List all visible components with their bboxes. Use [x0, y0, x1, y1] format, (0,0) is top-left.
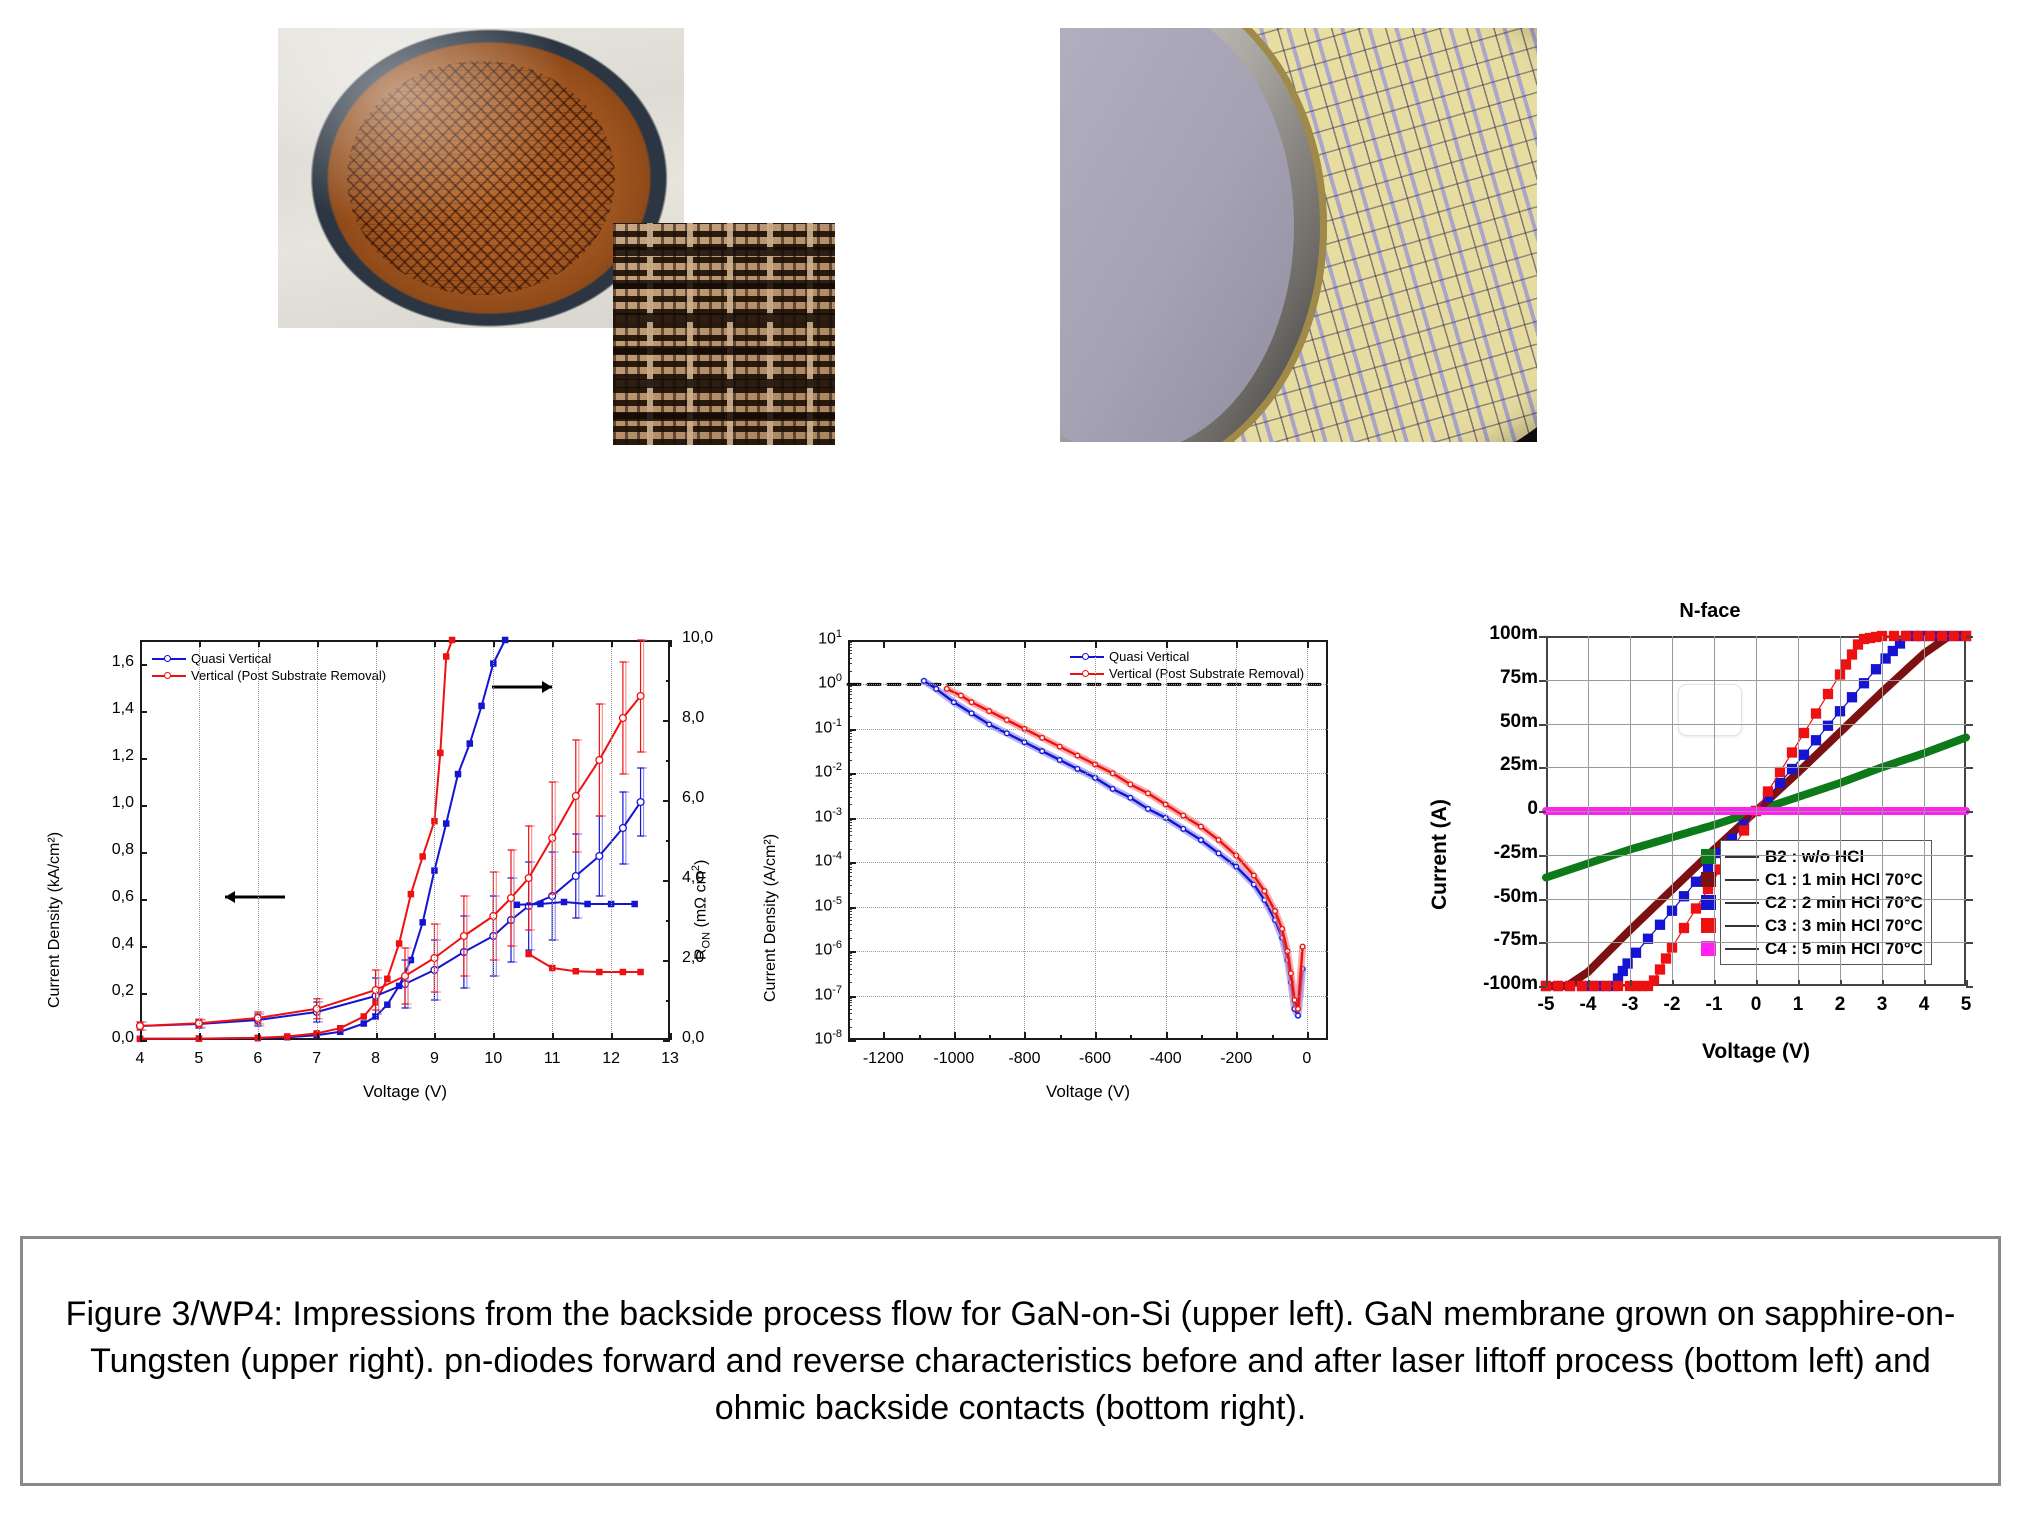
chart1-legend-label-0: Quasi Vertical — [191, 650, 271, 667]
chart2-y-minor-tick — [848, 698, 852, 699]
chart2-y-minor-tick — [848, 742, 852, 743]
chart3-y-tick-mark — [1539, 636, 1546, 638]
chart3-legend-item-c3[interactable]: C3 : 3 min HCl 70°C — [1725, 914, 1923, 937]
chart2-y-minor-tick — [848, 924, 852, 925]
chart2-y-tick-mark — [848, 773, 856, 775]
chart3-blank-badge — [1678, 684, 1742, 736]
chart3-x-tick-label: -2 — [1656, 994, 1688, 1016]
chart1-y2-tick-label: 0,0 — [682, 1029, 704, 1047]
chart2-y-minor-tick — [848, 747, 852, 748]
chart2-x-minor-tick — [1201, 1035, 1203, 1040]
y-tick-mark — [140, 711, 147, 713]
chart2-legend-label-0: Quasi Vertical — [1109, 648, 1189, 665]
chart2-y-minor-tick — [848, 820, 852, 821]
chart3-x-tick-label: -4 — [1572, 994, 1604, 1016]
chart3-legend-label-2: C2 : 2 min HCl 70°C — [1765, 891, 1923, 914]
chart2-y-minor-tick — [848, 1009, 852, 1010]
chart2-x-tick-label: -800 — [994, 1050, 1054, 1068]
chart3-x-tick-label: 3 — [1866, 994, 1898, 1016]
chart-forward-characteristics: Current Density (kA/cm²) RON (mΩ cm2) Vo… — [30, 630, 710, 1100]
chart1-y2-minor-tick — [666, 1000, 670, 1002]
chart1-y2-tick-label: 4,0 — [682, 869, 704, 887]
chart2-x-tick-mark — [1024, 640, 1026, 648]
chart2-y-tick-label: 10-2 — [790, 761, 842, 781]
chart3-x-tick-mark — [1714, 980, 1716, 986]
chart1-gridline-v — [434, 640, 435, 1040]
chart2-x-tick-label: -600 — [1065, 1050, 1125, 1068]
chart2-y-minor-tick — [848, 961, 852, 962]
x-tick-mark-top — [670, 640, 672, 647]
chart1-y-tick-label: 1,2 — [88, 747, 134, 765]
chart2-y-tick-mark — [848, 729, 856, 731]
x-tick-mark-top — [199, 640, 201, 647]
x-tick-mark-top — [317, 640, 319, 647]
chart3-x-tick-mark — [1588, 980, 1590, 986]
chart2-x-tick-mark — [954, 640, 956, 648]
chart2-gridline-h — [848, 862, 1328, 863]
chart3-y-tick-mark — [1539, 986, 1546, 988]
chart2-y-minor-tick — [848, 831, 852, 832]
y-tick-mark — [140, 664, 147, 666]
chart2-y-minor-tick — [848, 869, 852, 870]
chart2-x-minor-tick — [919, 1035, 921, 1040]
chart2-y-minor-tick — [848, 938, 852, 939]
chart2-y-minor-tick — [848, 867, 852, 868]
chart2-gridline-v — [1166, 640, 1167, 1040]
chart1-y-tick-label: 0,4 — [88, 935, 134, 953]
chart2-y-minor-tick — [848, 671, 852, 672]
x-tick-mark-top — [493, 640, 495, 647]
chart2-y-tick-label: 10-8 — [790, 1028, 842, 1048]
chart3-x-tick-mark — [1672, 980, 1674, 986]
chart2-gridline-h — [848, 684, 1328, 685]
y-tick-mark — [140, 852, 147, 854]
chart1-y-tick-label: 0,2 — [88, 982, 134, 1000]
chart2-y-minor-tick — [848, 914, 852, 915]
chart2-y-minor-tick — [848, 1019, 852, 1020]
chart3-x-tick-label: -3 — [1614, 994, 1646, 1016]
chart3-y2-tick-mark — [1966, 855, 1973, 857]
chart2-y-tick-label: 10-5 — [790, 895, 842, 915]
chart2-x-tick-label: 0 — [1277, 1050, 1337, 1068]
chart2-y-minor-tick — [848, 689, 852, 690]
chart2-y-minor-tick — [848, 1013, 852, 1014]
chart3-gridline-h — [1546, 680, 1966, 681]
chart2-y-minor-tick — [848, 716, 852, 717]
chart2-legend: Quasi Vertical Vertical (Post Substrate … — [1070, 648, 1304, 682]
chart3-y2-tick-mark — [1966, 811, 1973, 813]
chart2-x-tick-mark — [1166, 1032, 1168, 1040]
chart2-gridline-h — [848, 907, 1328, 908]
chart2-y-minor-tick — [848, 658, 852, 659]
chart2-y-minor-tick — [848, 893, 852, 894]
chart3-y2-tick-mark — [1966, 636, 1973, 638]
chart2-gridline-v — [1095, 640, 1096, 1040]
chart3-x-tick-mark — [1882, 980, 1884, 986]
chart1-legend-item-quasi-vertical[interactable]: Quasi Vertical — [152, 650, 386, 667]
chart2-y-minor-tick — [848, 733, 852, 734]
chart1-x-tick-label: 6 — [246, 1050, 270, 1068]
chart2-y-minor-tick — [848, 791, 852, 792]
chart2-x-tick-mark — [1236, 1032, 1238, 1040]
x-tick-mark — [493, 1033, 495, 1040]
chart3-legend-item-b2[interactable]: B2 : w/o HCl — [1725, 845, 1923, 868]
chart3-y-tick-mark — [1539, 680, 1546, 682]
chart2-gridline-h — [848, 996, 1328, 997]
chart2-x-tick-label: -1000 — [924, 1050, 984, 1068]
chart2-y-minor-tick — [848, 998, 852, 999]
chart2-y-minor-tick — [848, 825, 852, 826]
chart2-x-tick-mark — [1166, 640, 1168, 648]
chart3-legend-item-c1[interactable]: C1 : 1 min HCl 70°C — [1725, 868, 1923, 891]
chart3-y2-tick-mark — [1966, 680, 1973, 682]
chart1-y2-minor-tick — [666, 680, 670, 682]
chart1-y-tick-label: 1,0 — [88, 794, 134, 812]
chart2-y-tick-label: 101 — [790, 628, 842, 648]
x-tick-mark-top — [552, 640, 554, 647]
chart1-y2-tick-mark — [663, 960, 670, 962]
chart2-y-minor-tick — [848, 739, 852, 740]
chart2-y-tick-mark — [848, 640, 856, 642]
chart3-gridline-h — [1546, 855, 1966, 856]
chart3-x-tick-mark — [1630, 980, 1632, 986]
y-tick-mark — [140, 993, 147, 995]
chart3-x-tick-label: 1 — [1782, 994, 1814, 1016]
chart1-gridline-v — [317, 640, 318, 1040]
chart1-x-tick-label: 11 — [540, 1050, 564, 1068]
chart1-gridline-v — [493, 640, 494, 1040]
chart2-y-minor-tick — [848, 953, 852, 954]
chart1-x-tick-label: 10 — [481, 1050, 505, 1068]
chart3-x-tick-mark — [1546, 980, 1548, 986]
chart3-y2-tick-mark — [1966, 724, 1973, 726]
chart3-gridline-h — [1546, 942, 1966, 943]
chart3-y-tick-mark — [1539, 855, 1546, 857]
chip-closeup-photo — [613, 223, 835, 445]
chart2-y-tick-mark — [848, 862, 856, 864]
chart3-y-tick-label: -25m — [1434, 842, 1538, 864]
chart3-y-tick-mark — [1539, 899, 1546, 901]
chart2-y-minor-tick — [848, 1005, 852, 1006]
x-tick-mark — [552, 1033, 554, 1040]
chart3-y-tick-mark — [1539, 942, 1546, 944]
chart3-y-tick-label: 75m — [1434, 667, 1538, 689]
chart3-y-tick-mark — [1539, 767, 1546, 769]
chart3-legend-label-0: B2 : w/o HCl — [1765, 845, 1864, 868]
chart2-y-minor-tick — [848, 1027, 852, 1028]
chart2-x-minor-tick — [1272, 1035, 1274, 1040]
chart1-x-tick-label: 12 — [599, 1050, 623, 1068]
chart1-x-tick-label: 4 — [128, 1050, 152, 1068]
chart2-y-axis-title: Current Density (A/cm²) — [762, 834, 780, 1002]
chart2-y-minor-tick — [848, 876, 852, 877]
chart3-y-tick-mark — [1539, 724, 1546, 726]
chart1-y2-tick-label: 2,0 — [682, 949, 704, 967]
chart1-x-tick-label: 9 — [422, 1050, 446, 1068]
chart2-y-minor-tick — [848, 911, 852, 912]
chart2-y-minor-tick — [848, 1002, 852, 1003]
chart2-y-minor-tick — [848, 642, 852, 643]
chart3-x-axis-title: Voltage (V) — [1546, 1040, 1966, 1064]
chart2-x-tick-mark — [1307, 1032, 1309, 1040]
chart2-y-minor-tick — [848, 644, 852, 645]
chart2-y-tick-label: 10-6 — [790, 939, 842, 959]
chart1-y2-tick-mark — [663, 800, 670, 802]
y-tick-mark — [140, 946, 147, 948]
chart2-y-minor-tick — [848, 969, 852, 970]
chart1-x-tick-label: 13 — [658, 1050, 682, 1068]
chart2-x-axis-title: Voltage (V) — [848, 1082, 1328, 1102]
chart2-y-minor-tick — [848, 731, 852, 732]
chart3-x-tick-label: 4 — [1908, 994, 1940, 1016]
chart1-gridline-v — [199, 640, 200, 1040]
chart3-legend-item-c2[interactable]: C2 : 2 min HCl 70°C — [1725, 891, 1923, 914]
chart2-y-minor-tick — [848, 964, 852, 965]
chart2-y-minor-tick — [848, 647, 852, 648]
chart2-y-tick-label: 10-4 — [790, 850, 842, 870]
y-tick-mark — [140, 899, 147, 901]
chart2-x-tick-label: -400 — [1136, 1050, 1196, 1068]
chart2-y-tick-mark — [848, 951, 856, 953]
chart1-x-axis-title: Voltage (V) — [140, 1082, 670, 1102]
chart3-legend-item-c4[interactable]: C4 : 5 min HCl 70°C — [1725, 937, 1923, 960]
figure-caption-text: Figure 3/WP4: Impressions from the backs… — [23, 1291, 1998, 1432]
x-tick-mark — [670, 1033, 672, 1040]
chart2-x-tick-label: -1200 — [853, 1050, 913, 1068]
chart3-y-tick-label: 100m — [1434, 623, 1538, 645]
chart2-y-minor-tick — [848, 780, 852, 781]
x-tick-mark-top — [434, 640, 436, 647]
chip-pad-blocks — [613, 223, 835, 445]
chart2-y-minor-tick — [848, 694, 852, 695]
chart3-legend-label-3: C3 : 3 min HCl 70°C — [1765, 914, 1923, 937]
chart2-x-tick-label: -200 — [1206, 1050, 1266, 1068]
chart3-title: N-face — [1420, 600, 2000, 623]
chart2-y-minor-tick — [848, 736, 852, 737]
chart2-x-tick-mark — [1307, 640, 1309, 648]
chart1-legend-label-1: Vertical (Post Substrate Removal) — [191, 667, 386, 684]
chart2-y-minor-tick — [848, 885, 852, 886]
tilted-wafer-photo — [1060, 28, 1537, 442]
chart2-y-minor-tick — [848, 849, 852, 850]
chart2-y-minor-tick — [848, 930, 852, 931]
chart2-legend-label-1: Vertical (Post Substrate Removal) — [1109, 665, 1304, 682]
chart2-y-tick-label: 10-1 — [790, 717, 842, 737]
chart2-y-minor-tick — [848, 775, 852, 776]
chart3-x-tick-mark — [1756, 980, 1758, 986]
chart2-y-minor-tick — [848, 804, 852, 805]
chart2-x-tick-mark — [1236, 640, 1238, 648]
chart3-y-tick-label: 50m — [1434, 711, 1538, 733]
chart2-x-tick-mark — [954, 1032, 956, 1040]
chart2-y-tick-mark — [848, 818, 856, 820]
chart2-y-minor-tick — [848, 955, 852, 956]
chart1-legend: Quasi Vertical Vertical (Post Substrate … — [152, 650, 386, 684]
chart1-canvas — [140, 640, 670, 1040]
chart2-y-minor-tick — [848, 974, 852, 975]
chart2-canvas — [848, 640, 1328, 1040]
chart1-y2-tick-mark — [663, 1040, 670, 1042]
x-tick-mark — [376, 1033, 378, 1040]
chart2-y-minor-tick — [848, 797, 852, 798]
chart2-legend-item-vertical[interactable]: Vertical (Post Substrate Removal) — [1070, 665, 1304, 682]
chart1-y2-tick-mark — [663, 640, 670, 642]
chart3-gridline-h — [1546, 811, 1966, 812]
chart3-y-tick-label: -75m — [1434, 929, 1538, 951]
chart2-y-minor-tick — [848, 752, 852, 753]
chart2-y-tick-label: 10-7 — [790, 984, 842, 1004]
chart1-x-tick-label: 7 — [305, 1050, 329, 1068]
chart2-y-minor-tick — [848, 880, 852, 881]
chart-reverse-characteristics: Current Density (A/cm²) Voltage (V) Quas… — [740, 630, 1360, 1100]
chart1-y2-tick-label: 8,0 — [682, 709, 704, 727]
chart2-y-minor-tick — [848, 1000, 852, 1001]
chart1-y2-tick-label: 6,0 — [682, 789, 704, 807]
chart2-y-minor-tick — [848, 958, 852, 959]
x-tick-mark-top — [140, 640, 142, 647]
chart2-gridline-h — [848, 951, 1328, 952]
chart2-y-minor-tick — [848, 787, 852, 788]
chart3-legend-label-1: C1 : 1 min HCl 70°C — [1765, 868, 1923, 891]
chart2-y-minor-tick — [848, 841, 852, 842]
x-tick-mark — [317, 1033, 319, 1040]
chart2-y-tick-mark — [848, 907, 856, 909]
x-tick-mark — [258, 1033, 260, 1040]
chart3-x-tick-mark — [1924, 980, 1926, 986]
chart2-y-minor-tick — [848, 653, 852, 654]
x-tick-mark — [434, 1033, 436, 1040]
chart3-legend-label-4: C4 : 5 min HCl 70°C — [1765, 937, 1923, 960]
chart2-y-minor-tick — [848, 691, 852, 692]
chart1-y-tick-label: 0,8 — [88, 841, 134, 859]
chart1-x-tick-label: 5 — [187, 1050, 211, 1068]
chart2-x-tick-mark — [883, 640, 885, 648]
chart1-gridline-v — [552, 640, 553, 1040]
chart1-y2-minor-tick — [666, 840, 670, 842]
y-tick-mark — [140, 805, 147, 807]
chart3-x-tick-label: 0 — [1740, 994, 1772, 1016]
chart1-gridline-v — [258, 640, 259, 1040]
chart3-x-tick-label: -1 — [1698, 994, 1730, 1016]
chart3-y-tick-label: -100m — [1434, 973, 1538, 995]
chart3-gridline-h — [1546, 899, 1966, 900]
chart2-y-minor-tick — [848, 872, 852, 873]
chart3-y-tick-label: 25m — [1434, 754, 1538, 776]
chart2-x-tick-mark — [1095, 1032, 1097, 1040]
chart2-gridline-v — [1024, 640, 1025, 1040]
chart2-y-minor-tick — [848, 702, 852, 703]
chart3-y-tick-label: -50m — [1434, 886, 1538, 908]
chart2-x-tick-mark — [1095, 640, 1097, 648]
chart3-y-tick-label: 0 — [1434, 798, 1538, 820]
chart2-y-minor-tick — [848, 917, 852, 918]
chart2-y-tick-mark — [848, 996, 856, 998]
chart1-y-tick-label: 0,6 — [88, 888, 134, 906]
chart2-y-minor-tick — [848, 822, 852, 823]
chart2-y-minor-tick — [848, 828, 852, 829]
chart1-y-tick-label: 0,0 — [88, 1029, 134, 1047]
chart2-y-minor-tick — [848, 909, 852, 910]
chart3-x-tick-mark — [1840, 980, 1842, 986]
chart3-x-tick-mark — [1798, 980, 1800, 986]
chart1-y2-minor-tick — [666, 920, 670, 922]
chart1-y-tick-label: 1,4 — [88, 700, 134, 718]
chart2-y-minor-tick — [848, 982, 852, 983]
chart-n-face-ohmic: N-face Current (A) Voltage (V) B2 : w/o … — [1420, 600, 2000, 1100]
chart2-y-tick-mark — [848, 1040, 856, 1042]
chart2-y-minor-tick — [848, 783, 852, 784]
x-tick-mark — [199, 1033, 201, 1040]
chart1-legend-item-vertical[interactable]: Vertical (Post Substrate Removal) — [152, 667, 386, 684]
x-tick-mark — [140, 1033, 142, 1040]
chart2-y-tick-label: 10-3 — [790, 806, 842, 826]
chart2-gridline-h — [848, 729, 1328, 730]
chart1-y2-tick-label: 10,0 — [682, 629, 713, 647]
chart2-legend-item-quasi-vertical[interactable]: Quasi Vertical — [1070, 648, 1304, 665]
chart3-gridline-h — [1546, 724, 1966, 725]
chart2-x-minor-tick — [989, 1035, 991, 1040]
x-tick-mark-top — [376, 640, 378, 647]
chart2-y-minor-tick — [848, 650, 852, 651]
chart3-y2-tick-mark — [1966, 942, 1973, 944]
chart1-y2-tick-mark — [663, 880, 670, 882]
chart2-x-tick-mark — [1024, 1032, 1026, 1040]
x-tick-mark-top — [258, 640, 260, 647]
y-tick-mark — [140, 758, 147, 760]
chart2-x-minor-tick — [1130, 1035, 1132, 1040]
chart2-y-minor-tick — [848, 708, 852, 709]
x-tick-mark — [611, 1033, 613, 1040]
chart1-x-tick-label: 8 — [364, 1050, 388, 1068]
chart2-y-minor-tick — [848, 864, 852, 865]
chart1-y-tick-label: 1,6 — [88, 653, 134, 671]
chart2-gridline-v — [1307, 640, 1308, 1040]
chart3-y-tick-mark — [1539, 811, 1546, 813]
chart2-gridline-h — [848, 818, 1328, 819]
chart3-gridline-h — [1546, 767, 1966, 768]
chart3-x-tick-label: 5 — [1950, 994, 1982, 1016]
chart2-y-minor-tick — [848, 760, 852, 761]
chart1-y-axis-title: Current Density (kA/cm²) — [46, 832, 64, 1008]
chart2-gridline-h — [848, 773, 1328, 774]
chart2-y-tick-label: 100 — [790, 672, 842, 692]
chart2-gridline-v — [1236, 640, 1237, 1040]
chart3-x-tick-label: 2 — [1824, 994, 1856, 1016]
chart2-y-minor-tick — [848, 920, 852, 921]
chart3-y2-tick-mark — [1966, 767, 1973, 769]
chart2-y-minor-tick — [848, 686, 852, 687]
chart3-y2-tick-mark — [1966, 899, 1973, 901]
chart3-y2-tick-mark — [1966, 986, 1973, 988]
chart1-y2-tick-mark — [663, 720, 670, 722]
chart3-legend: B2 : w/o HCl C1 : 1 min HCl 70°C C2 : 2 … — [1720, 840, 1932, 965]
chart2-gridline-v — [954, 640, 955, 1040]
chart2-y-tick-mark — [848, 684, 856, 686]
chart2-y-minor-tick — [848, 778, 852, 779]
chart1-gridline-v — [611, 640, 612, 1040]
chart3-x-tick-label: -5 — [1530, 994, 1562, 1016]
x-tick-mark-top — [611, 640, 613, 647]
chart1-gridline-v — [376, 640, 377, 1040]
chart2-x-tick-mark — [883, 1032, 885, 1040]
chart1-y2-minor-tick — [666, 760, 670, 762]
y-tick-mark — [140, 1040, 147, 1042]
figure-caption-box: Figure 3/WP4: Impressions from the backs… — [20, 1236, 2001, 1486]
chart2-y-minor-tick — [848, 835, 852, 836]
chart2-x-minor-tick — [1060, 1035, 1062, 1040]
chart2-y-minor-tick — [848, 663, 852, 664]
